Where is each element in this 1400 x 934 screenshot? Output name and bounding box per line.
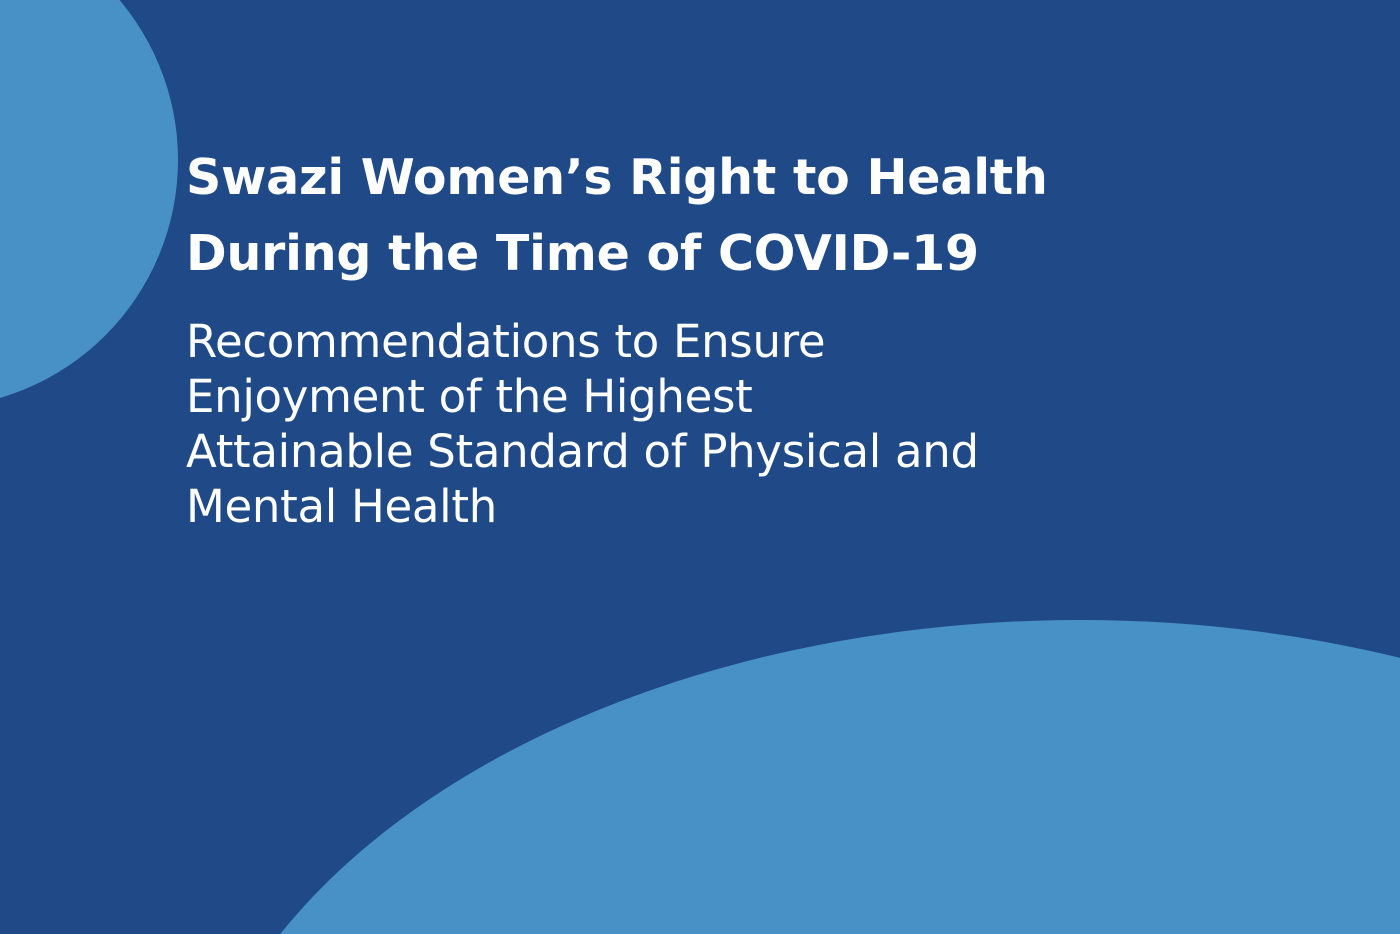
top-left-circle-icon bbox=[0, 0, 178, 408]
subtitle-line-2: Enjoyment of the Highest bbox=[186, 369, 1146, 424]
subtitle-line-4: Mental Health bbox=[186, 479, 1146, 534]
title-line-2: During the Time of COVID-19 bbox=[186, 216, 1146, 292]
page-title: Swazi Women’s Right to Health During the… bbox=[186, 140, 1146, 292]
page-subtitle: Recommendations to Ensure Enjoyment of t… bbox=[186, 292, 1146, 534]
subtitle-line-1: Recommendations to Ensure bbox=[186, 314, 1146, 369]
subtitle-line-3: Attainable Standard of Physical and bbox=[186, 424, 1146, 479]
title-line-1: Swazi Women’s Right to Health bbox=[186, 140, 1146, 216]
title-slide: Swazi Women’s Right to Health During the… bbox=[0, 0, 1400, 934]
slide-text-block: Swazi Women’s Right to Health During the… bbox=[186, 140, 1146, 534]
bottom-right-ellipse-icon bbox=[180, 620, 1400, 934]
